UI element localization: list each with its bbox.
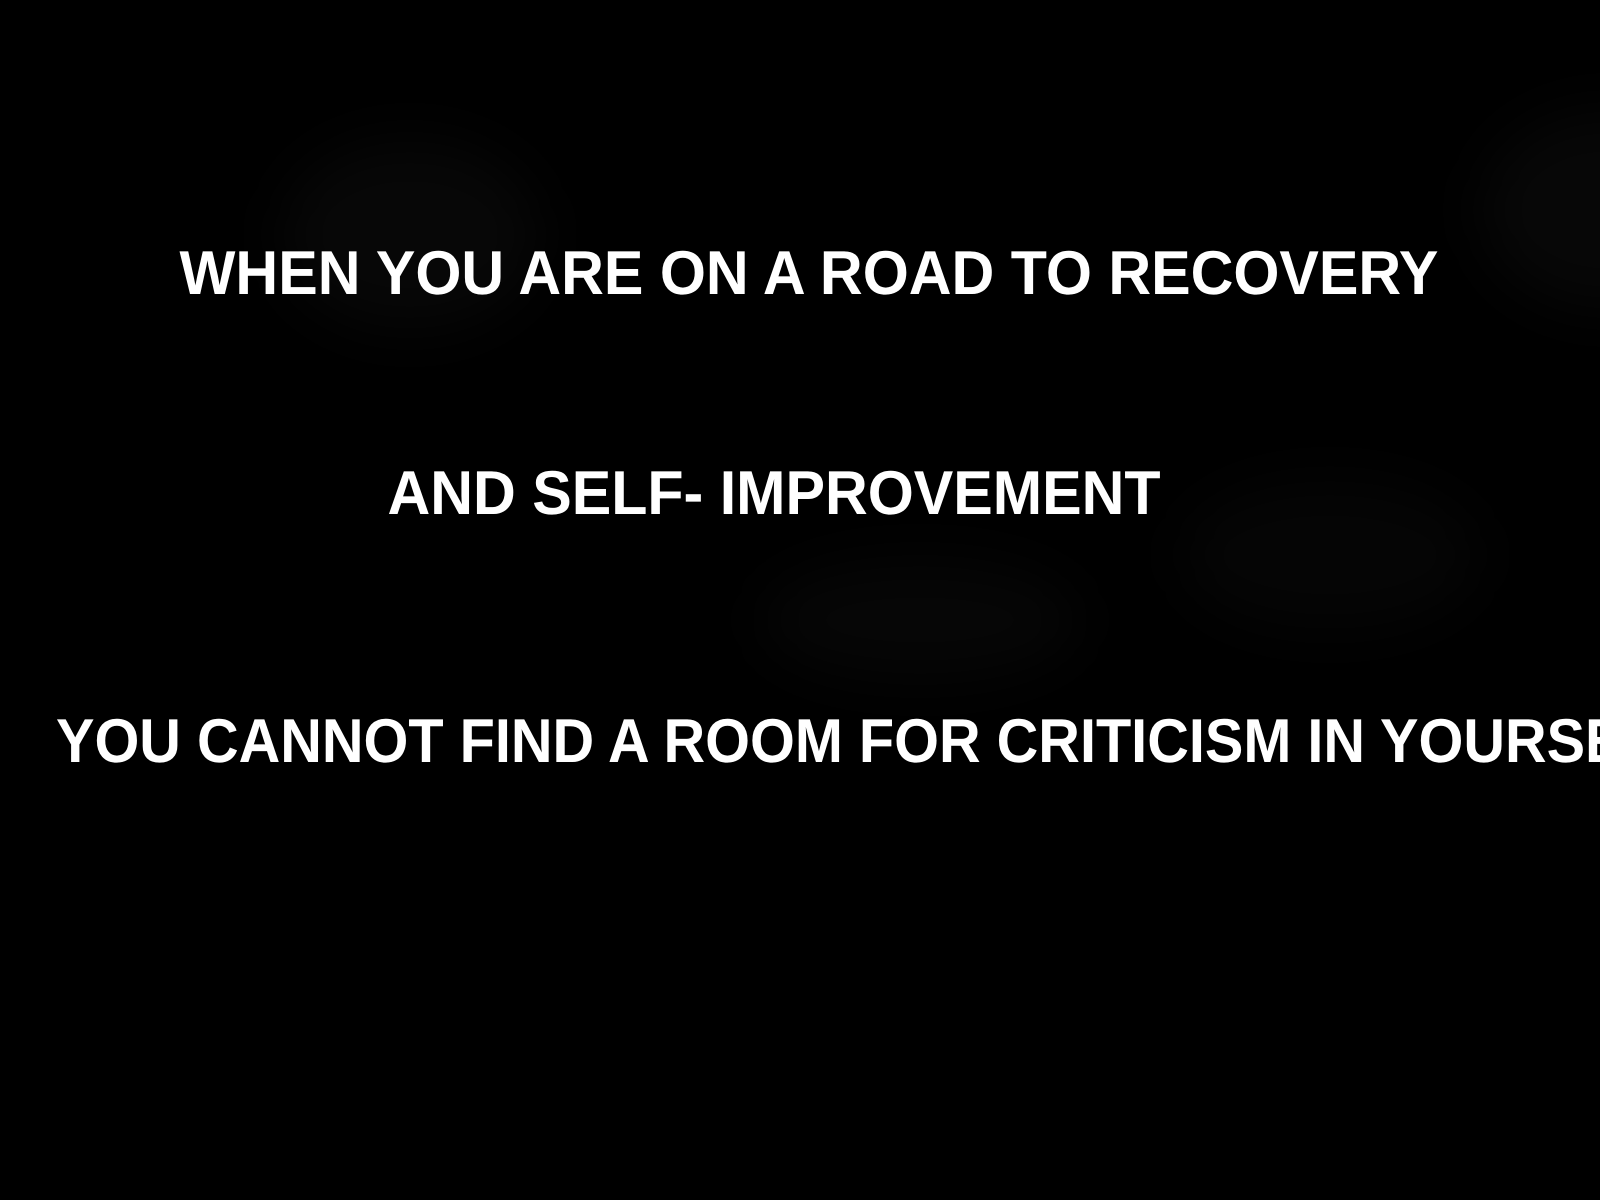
- quote-slide: WHEN YOU ARE ON A ROAD TO RECOVERY AND S…: [0, 0, 1600, 1200]
- quote-line-2: AND SELF- IMPROVEMENT: [10, 463, 1538, 525]
- quote-line-3: YOU CANNOT FIND A ROOM FOR CRITICISM IN …: [56, 711, 1544, 773]
- quote-line-1: WHEN YOU ARE ON A ROAD TO RECOVERY: [45, 243, 1573, 305]
- background-artifact: [760, 560, 1080, 680]
